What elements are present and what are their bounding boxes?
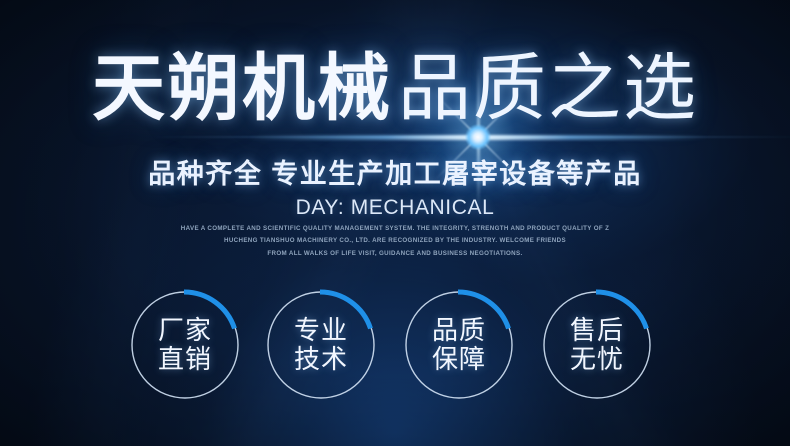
headline: 天朔机械品质之选 xyxy=(0,48,790,130)
feature-label-line2: 无忧 xyxy=(570,345,624,374)
feature-circle-after-sales-worryfree[interactable]: 售后 无忧 xyxy=(541,289,653,401)
feature-label-line1: 售后 xyxy=(570,316,624,345)
promo-banner: 天朔机械品质之选 品种齐全 专业生产加工屠宰设备等产品 DAY: MECHANI… xyxy=(0,0,790,446)
headline-tagline: 品质之选 xyxy=(398,48,698,129)
feature-label-line1: 厂家 xyxy=(158,316,212,345)
feature-circle-professional-technology[interactable]: 专业 技术 xyxy=(265,289,377,401)
subtitle-chinese: 品种齐全 专业生产加工屠宰设备等产品 xyxy=(0,152,790,191)
description-line-2: HUCHENG TIANSHUO MACHINERY CO., LTD. ARE… xyxy=(0,235,790,247)
feature-label-line2: 技术 xyxy=(294,345,348,374)
feature-label-line2: 保障 xyxy=(432,345,486,374)
feature-circle-factory-direct[interactable]: 厂家 直销 xyxy=(129,289,241,401)
feature-circles: 厂家 直销 专业 技术 品质 保障 xyxy=(0,289,790,401)
description-paragraph: HAVE A COMPLETE AND SCIENTIFIC QUALITY M… xyxy=(0,223,790,260)
headline-brand: 天朔机械 xyxy=(92,48,392,129)
feature-circle-quality-assurance[interactable]: 品质 保障 xyxy=(403,289,515,401)
subtitle-english: DAY: MECHANICAL xyxy=(0,196,790,220)
feature-label-line1: 专业 xyxy=(294,316,348,345)
description-line-3: FROM ALL WALKS OF LIFE VISIT, GUIDANCE A… xyxy=(0,248,790,260)
feature-label-line2: 直销 xyxy=(158,345,212,374)
description-line-1: HAVE A COMPLETE AND SCIENTIFIC QUALITY M… xyxy=(0,223,790,235)
feature-label-line1: 品质 xyxy=(432,316,486,345)
